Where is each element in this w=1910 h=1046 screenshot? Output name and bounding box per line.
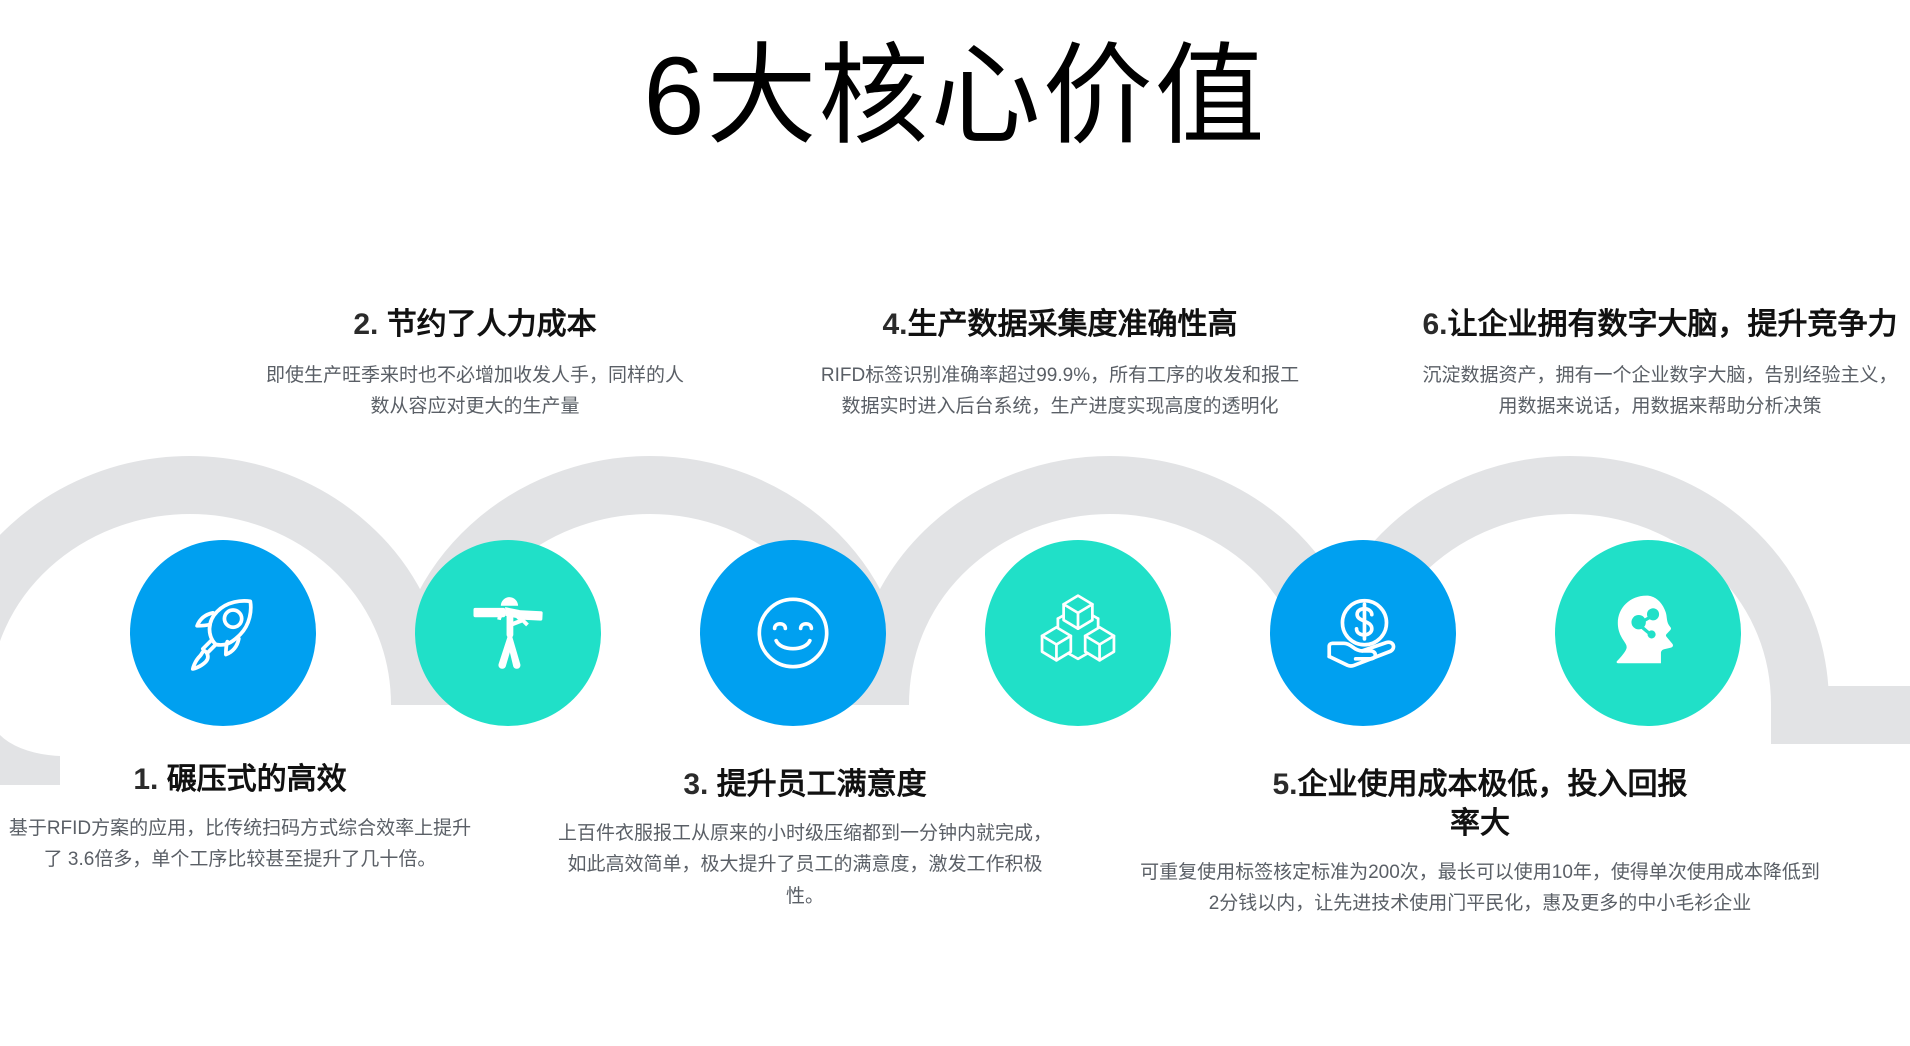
value-item-4-heading: 4.生产数据采集度准确性高 [820,305,1300,344]
value-item-4-description: RIFD标签识别准确率超过99.9%，所有工序的收发和报工数据实时进入后台系统，… [820,360,1300,423]
smiley-face-icon [744,584,842,682]
value-item-2-title: 节约了人力成本 [387,308,597,341]
value-item-4: 4.生产数据采集度准确性高 RIFD标签识别准确率超过99.9%，所有工序的收发… [820,305,1300,423]
value-circle-3[interactable] [700,540,886,726]
value-item-3-title: 提升员工满意度 [717,768,927,801]
page-title: 6大核心价值 [0,28,1910,166]
value-item-1: 1. 碾压式的高效 基于RFID方案的应用，比传统扫码方式综合效率上提升了 3.… [0,760,480,876]
value-item-6-description: 沉淀数据资产，拥有一个企业数字大脑，告别经验主义，用数据来说话，用数据来帮助分析… [1420,360,1900,423]
value-item-4-number: 4. [882,308,907,341]
value-item-1-heading: 1. 碾压式的高效 [0,760,480,799]
value-item-1-number: 1. [133,763,158,796]
icon-circles-row [0,540,1910,740]
value-circle-5[interactable] [1270,540,1456,726]
value-item-1-title: 碾压式的高效 [167,763,347,796]
rocket-icon [177,587,269,679]
value-circle-4[interactable] [985,540,1171,726]
value-circle-1[interactable] [130,540,316,726]
value-item-3-number: 3. [683,768,708,801]
value-item-6-heading: 6.让企业拥有数字大脑，提升竞争力 [1420,305,1900,344]
value-item-3: 3. 提升员工满意度 上百件衣服报工从原来的小时级压缩都到一分钟内就完成，如此高… [545,765,1065,912]
value-item-2-heading: 2. 节约了人力成本 [265,305,685,344]
head-with-network-brain-icon [1602,587,1694,679]
hand-holding-coin-icon [1316,586,1410,680]
value-item-2-description: 即使生产旺季来时也不必增加收发人手，同样的人数从容应对更大的生产量 [265,360,685,423]
value-item-6-number: 6. [1422,308,1447,341]
value-item-6-title: 让企业拥有数字大脑，提升竞争力 [1448,308,1898,341]
value-item-2: 2. 节约了人力成本 即使生产旺季来时也不必增加收发人手，同样的人数从容应对更大… [265,305,685,423]
value-circle-2[interactable] [415,540,601,726]
value-item-5-number: 5. [1272,768,1297,801]
worker-carrying-beam-icon [462,587,554,679]
value-item-3-heading: 3. 提升员工满意度 [545,765,1065,804]
value-circle-6[interactable] [1555,540,1741,726]
value-item-6: 6.让企业拥有数字大脑，提升竞争力 沉淀数据资产，拥有一个企业数字大脑，告别经验… [1420,305,1900,423]
value-item-5-heading: 5.企业使用成本极低，投入回报率大 [1265,765,1695,843]
value-item-3-description: 上百件衣服报工从原来的小时级压缩都到一分钟内就完成，如此高效简单，极大提升了员工… [545,818,1065,912]
value-item-1-description: 基于RFID方案的应用，比传统扫码方式综合效率上提升了 3.6倍多，单个工序比较… [0,813,480,876]
value-item-5-title: 企业使用成本极低，投入回报率大 [1298,768,1688,840]
value-item-4-title: 生产数据采集度准确性高 [908,308,1238,341]
value-item-5-description: 可重复使用标签核定标准为200次，最长可以使用10年，使得单次使用成本降低到2分… [1130,857,1830,920]
value-item-2-number: 2. [353,308,378,341]
value-item-5: 5.企业使用成本极低，投入回报率大 可重复使用标签核定标准为200次，最长可以使… [1130,765,1830,920]
connected-cubes-icon [1032,587,1124,679]
